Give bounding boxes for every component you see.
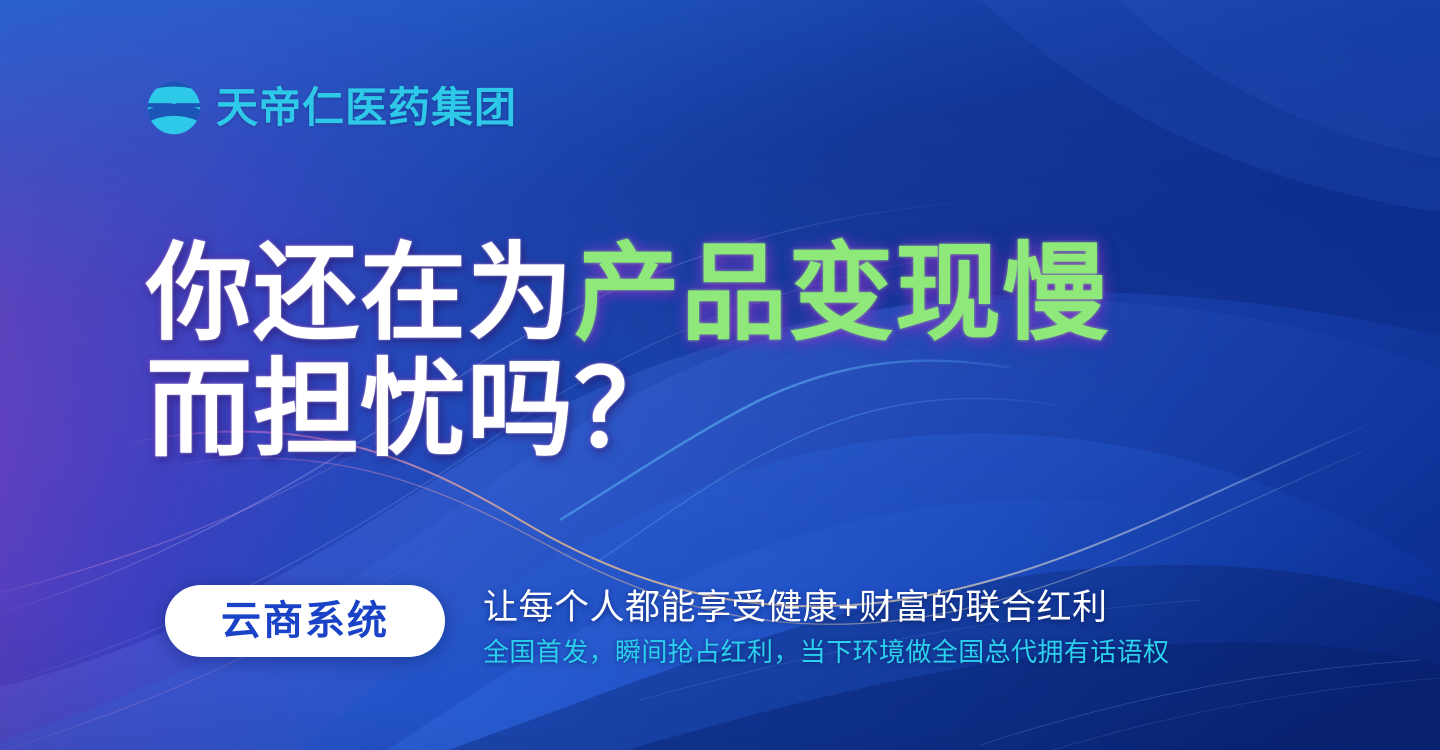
brand-logo[interactable]: 天帝仁医药集团 [146, 80, 517, 136]
brand-name: 天帝仁医药集团 [216, 87, 517, 129]
cloud-commerce-badge[interactable]: 云商系统 [165, 585, 445, 657]
footer-block: 云商系统 让每个人都能享受健康+财富的联合红利 全国首发，瞬间抢占红利，当下环境… [165, 583, 1169, 668]
headline-plain-text: 你还在为 [146, 235, 574, 353]
tagline-primary: 让每个人都能享受健康+财富的联合红利 [483, 587, 1169, 630]
headline-highlight-text: 产品变现慢 [574, 235, 1109, 353]
headline-line-2: 而担忧吗？ [146, 354, 1109, 466]
headline: 你还在为产品变现慢 而担忧吗？ [146, 238, 1109, 467]
headline-line-1: 你还在为产品变现慢 [146, 238, 1109, 350]
cloud-commerce-badge-label: 云商系统 [221, 601, 389, 641]
tagline-secondary: 全国首发，瞬间抢占红利，当下环境做全国总代拥有话语权 [483, 636, 1169, 669]
promo-banner: 天帝仁医药集团 你还在为产品变现慢 而担忧吗？ 云商系统 让每个人都能享受健康+… [0, 0, 1440, 750]
tagline-group: 让每个人都能享受健康+财富的联合红利 全国首发，瞬间抢占红利，当下环境做全国总代… [483, 583, 1169, 668]
globe-circle-logo-icon [146, 80, 202, 136]
